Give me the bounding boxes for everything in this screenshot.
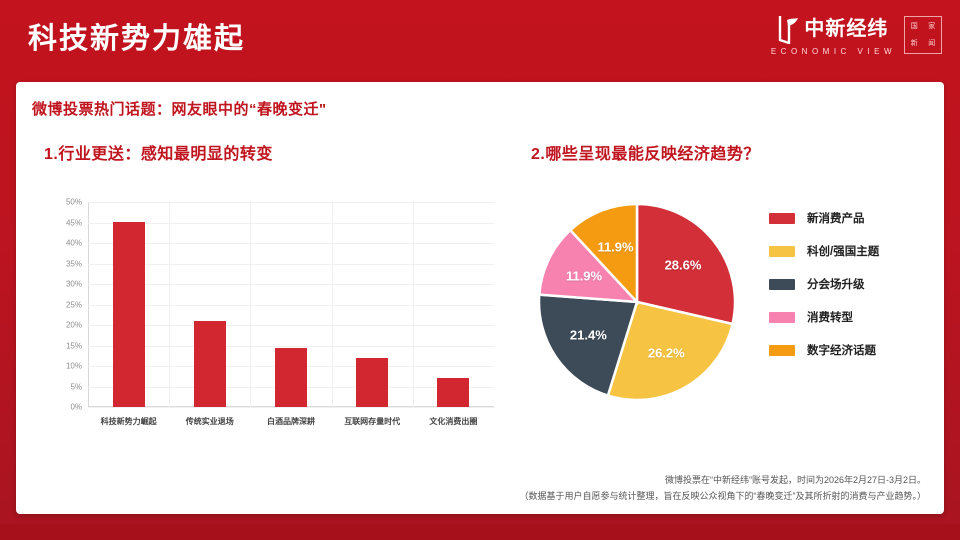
bar-chart-bar: [437, 378, 469, 407]
pie-chart-graphic: 28.6%26.2%21.4%11.9%11.9%: [539, 204, 735, 400]
pie-slice-label: 21.4%: [570, 328, 607, 343]
seal-stamp-icon: 国 家 新 闻: [904, 16, 942, 54]
bar-chart-x-label: 传统实业退场: [186, 416, 234, 427]
bar-chart-x-label: 互联网存量时代: [344, 416, 400, 427]
bar-chart-plot-area: 0%5%10%15%20%25%30%35%40%45%50%科技新势力崛起传统…: [88, 202, 494, 407]
card-subtitle: 微博投票热门话题：网友眼中的“春晚变迁": [32, 98, 327, 119]
bar-chart-gridline: [88, 264, 494, 265]
bar-chart-y-tick: 50%: [66, 198, 88, 207]
bar-chart-y-tick: 0%: [70, 403, 88, 412]
poster-header: 科技新势力雄起 中新经纬 ECONOMIC VIEW 国 家 新 闻: [0, 0, 960, 82]
seal-char-1: 国: [906, 18, 923, 35]
logo-name-cn: 中新经纬: [804, 18, 888, 40]
legend-label: 科创/强国主题: [807, 243, 879, 259]
seal-char-3: 新: [906, 36, 923, 53]
bar-chart-y-tick: 10%: [66, 362, 88, 371]
poster-root: 科技新势力雄起 中新经纬 ECONOMIC VIEW 国 家 新 闻: [0, 0, 960, 540]
legend-label: 消费转型: [807, 309, 853, 325]
footnote-line-1: 微博投票在“中新经纬”账号发起，时间为2026年2月27日-3月2日。: [520, 472, 927, 488]
logo-mark-icon: [778, 14, 800, 44]
brand-logo: 中新经纬 ECONOMIC VIEW 国 家 新 闻: [771, 14, 942, 56]
legend-swatch: [769, 312, 795, 323]
legend-label: 新消费产品: [807, 210, 865, 226]
footnote: 微博投票在“中新经纬”账号发起，时间为2026年2月27日-3月2日。 （数据基…: [520, 472, 927, 504]
pie-slice-label: 26.2%: [648, 345, 685, 360]
bar-chart-gridline: [88, 243, 494, 244]
legend-item: 数字经济话题: [769, 342, 879, 358]
bar-chart-gridline-vertical: [332, 202, 333, 407]
pie-chart-legend: 新消费产品科创/强国主题分会场升级消费转型数字经济话题: [769, 210, 879, 375]
seal-char-4: 闻: [924, 36, 941, 53]
bar-chart-gridline-vertical: [250, 202, 251, 407]
bar-chart-gridline: [88, 325, 494, 326]
logo-name-en: ECONOMIC VIEW: [771, 47, 896, 56]
logo-row: 中新经纬: [778, 14, 888, 44]
bar-chart-gridline: [88, 346, 494, 347]
footnote-line-2: （数据基于用户自愿参与统计整理，旨在反映公众视角下的“春晚变迁”及其所折射的消费…: [520, 488, 927, 504]
legend-item: 新消费产品: [769, 210, 879, 226]
section-2-title: 2.哪些呈现最能反映经济趋势？: [531, 140, 760, 164]
bar-chart-y-tick: 15%: [66, 341, 88, 350]
bar-chart-gridline: [88, 305, 494, 306]
footer-strip: [0, 524, 960, 540]
pie-chart: 28.6%26.2%21.4%11.9%11.9% 新消费产品科创/强国主题分会…: [521, 192, 931, 457]
section-1-title: 1.行业更送：感知最明显的转变: [44, 140, 273, 164]
bar-chart-x-label: 科技新势力崛起: [101, 416, 157, 427]
pie-slice-label: 11.9%: [566, 269, 602, 284]
bar-chart-gridline: [88, 202, 494, 203]
bar-chart-y-tick: 35%: [66, 259, 88, 268]
bar-chart-bar: [113, 222, 145, 407]
pie-slice-label: 11.9%: [597, 240, 633, 255]
bar-chart-y-tick: 20%: [66, 321, 88, 330]
bar-chart-gridline-vertical: [169, 202, 170, 407]
bar-chart-gridline: [88, 407, 494, 408]
legend-label: 分会场升级: [807, 276, 865, 292]
pie-slices: [539, 204, 735, 400]
bar-chart: 0%5%10%15%20%25%30%35%40%45%50%科技新势力崛起传统…: [40, 194, 510, 449]
seal-char-2: 家: [924, 18, 941, 35]
pie-slice-label: 28.6%: [665, 258, 702, 273]
bar-chart-gridline-vertical: [413, 202, 414, 407]
bar-chart-y-tick: 45%: [66, 218, 88, 227]
legend-label: 数字经济话题: [807, 342, 876, 358]
bar-chart-gridline: [88, 284, 494, 285]
bar-chart-bar: [194, 321, 226, 407]
bar-chart-y-tick: 5%: [70, 382, 88, 391]
logo-text-block: 中新经纬 ECONOMIC VIEW: [771, 14, 896, 56]
legend-item: 科创/强国主题: [769, 243, 879, 259]
legend-swatch: [769, 246, 795, 257]
legend-swatch: [769, 213, 795, 224]
legend-item: 消费转型: [769, 309, 879, 325]
bar-chart-y-tick: 30%: [66, 280, 88, 289]
bar-chart-y-tick: 40%: [66, 239, 88, 248]
content-card: 微博投票热门话题：网友眼中的“春晚变迁" 1.行业更送：感知最明显的转变 2.哪…: [16, 82, 944, 514]
legend-item: 分会场升级: [769, 276, 879, 292]
bar-chart-gridline: [88, 223, 494, 224]
bar-chart-x-label: 文化消费出圈: [429, 416, 477, 427]
bar-chart-bar: [356, 358, 388, 407]
bar-chart-y-tick: 25%: [66, 300, 88, 309]
page-title: 科技新势力雄起: [28, 19, 245, 59]
legend-swatch: [769, 279, 795, 290]
bar-chart-x-label: 白酒品牌深耕: [267, 416, 315, 427]
bar-chart-bar: [275, 348, 307, 407]
legend-swatch: [769, 345, 795, 356]
